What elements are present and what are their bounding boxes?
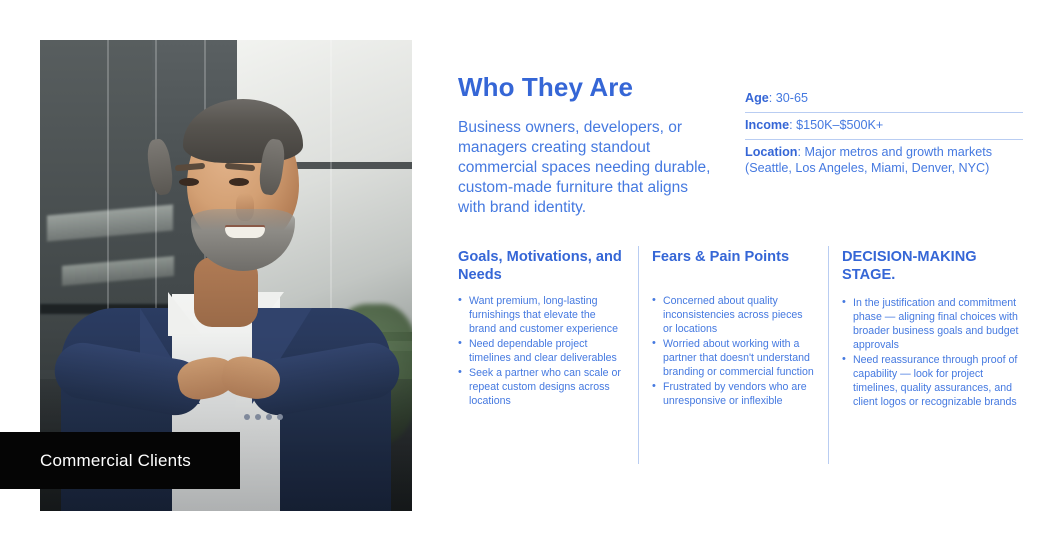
stat-label-age: Age: [745, 91, 769, 105]
stat-value-age: : 30-65: [769, 91, 808, 105]
who-they-are-heading: Who They Are: [458, 72, 633, 103]
list-item: Need dependable project timelines and cl…: [458, 337, 624, 365]
column-fears: Fears & Pain Points Concerned about qual…: [638, 248, 828, 468]
list-item: Seek a partner who can scale or repeat c…: [458, 366, 624, 408]
list-item: Worried about working with a partner tha…: [652, 337, 814, 379]
stat-value-income: : $150K–$500K+: [789, 118, 883, 132]
list-item: Frustrated by vendors who are unresponsi…: [652, 380, 814, 408]
photo-caption-bar: Commercial Clients: [0, 432, 240, 489]
list-item: Concerned about quality inconsistencies …: [652, 294, 814, 336]
stat-label-location: Location: [745, 145, 797, 159]
photo-caption-label: Commercial Clients: [40, 451, 191, 471]
column-decision-stage-list: In the justification and commitment phas…: [842, 296, 1023, 409]
column-decision-stage: DECISION-MAKING STAGE. In the justificat…: [828, 248, 1023, 468]
column-goals-list: Want premium, long-lasting furnishings t…: [458, 294, 624, 408]
persona-slide: Commercial Clients Who They Are Business…: [0, 0, 1045, 554]
column-fears-list: Concerned about quality inconsistencies …: [652, 294, 814, 408]
demographics-panel: Age: 30-65 Income: $150K–$500K+ Location…: [745, 86, 1023, 182]
column-goals: Goals, Motivations, and Needs Want premi…: [458, 248, 638, 468]
who-they-are-body: Business owners, developers, or managers…: [458, 118, 716, 218]
stat-row-location: Location: Major metros and growth market…: [745, 139, 1023, 182]
list-item: Need reassurance through proof of capabi…: [842, 353, 1023, 409]
persona-columns: Goals, Motivations, and Needs Want premi…: [458, 248, 1023, 468]
stat-label-income: Income: [745, 118, 789, 132]
list-item: In the justification and commitment phas…: [842, 296, 1023, 352]
stat-row-age: Age: 30-65: [745, 86, 1023, 112]
column-decision-stage-heading: DECISION-MAKING STAGE.: [842, 248, 1023, 284]
column-fears-heading: Fears & Pain Points: [652, 248, 814, 266]
column-goals-heading: Goals, Motivations, and Needs: [458, 248, 624, 284]
stat-row-income: Income: $150K–$500K+: [745, 112, 1023, 139]
list-item: Want premium, long-lasting furnishings t…: [458, 294, 624, 336]
